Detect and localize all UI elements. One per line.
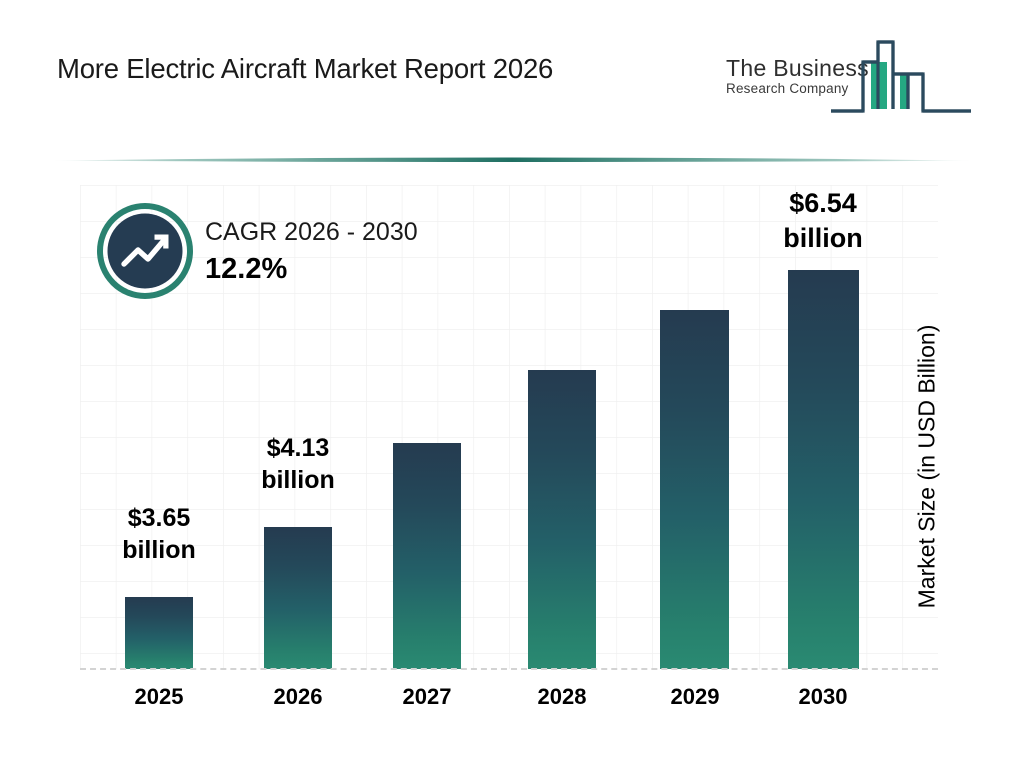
- bar-2028: [528, 370, 596, 669]
- bar-2027: [393, 443, 461, 669]
- trending-up-arrow-icon: [97, 203, 193, 299]
- value-label-2026-amount: $4.13: [218, 432, 378, 464]
- value-label-2030-amount: $6.54: [742, 186, 904, 221]
- value-label-2026-unit: billion: [218, 464, 378, 496]
- chart-canvas: More Electric Aircraft Market Report 202…: [0, 0, 1024, 768]
- value-label-2026: $4.13 billion: [218, 432, 378, 496]
- bar-2025: [125, 597, 193, 669]
- y-axis-title-text: Market Size (in USD Billion): [914, 324, 941, 608]
- bar-2030: [788, 270, 859, 669]
- cagr-range-label: CAGR 2026 - 2030: [205, 217, 418, 247]
- cagr-text-block: CAGR 2026 - 2030 12.2%: [205, 217, 418, 286]
- cagr-value: 12.2%: [205, 254, 418, 286]
- cagr-badge: CAGR 2026 - 2030 12.2%: [97, 203, 497, 299]
- bar-2029: [660, 310, 729, 669]
- axis-baseline: [80, 668, 938, 670]
- bar-chart-logo-mark: [830, 34, 972, 118]
- x-tick-2025: 2025: [79, 684, 239, 710]
- bar-2026: [264, 527, 332, 669]
- section-divider: [50, 150, 974, 170]
- value-label-2030-unit: billion: [742, 221, 904, 256]
- y-axis-title: Market Size (in USD Billion): [912, 286, 942, 646]
- value-label-2025: $3.65 billion: [79, 502, 239, 566]
- value-label-2025-unit: billion: [79, 534, 239, 566]
- company-logo: The Business Research Company: [726, 34, 972, 118]
- value-label-2030: $6.54 billion: [742, 186, 904, 255]
- x-tick-2030: 2030: [743, 684, 903, 710]
- page-title: More Electric Aircraft Market Report 202…: [57, 53, 553, 85]
- value-label-2025-amount: $3.65: [79, 502, 239, 534]
